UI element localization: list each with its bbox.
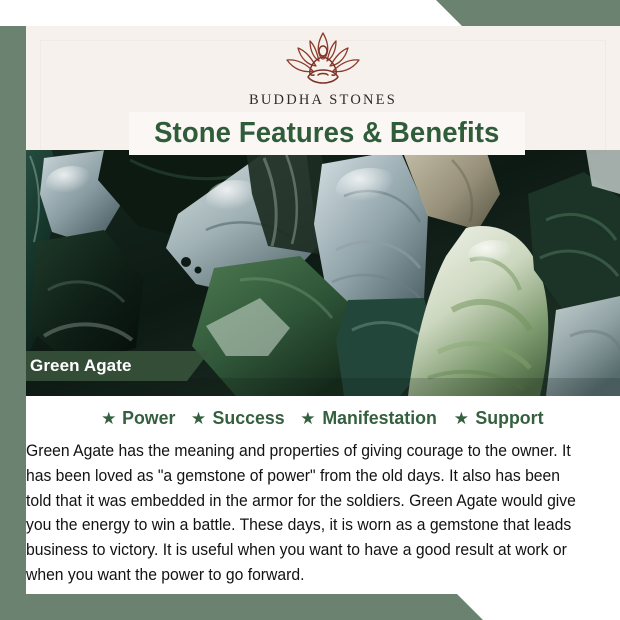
stone-info-card: BUDDHA STONES Stone Features & Benefits <box>0 0 620 620</box>
stone-name-text: Green Agate <box>30 356 132 376</box>
star-icon: ★ <box>101 410 116 427</box>
benefit-item: ★ Manifestation <box>300 407 439 429</box>
page-title-banner: Stone Features & Benefits <box>129 112 525 155</box>
card-body: BUDDHA STONES Stone Features & Benefits <box>26 26 620 594</box>
page-title: Stone Features & Benefits <box>154 117 499 150</box>
benefit-label: Support <box>475 407 543 429</box>
benefit-label: Manifestation <box>323 407 437 429</box>
benefits-list: ★ Power ★ Success ★ Manifestation ★ Supp… <box>26 400 620 436</box>
benefit-label: Success <box>213 407 285 429</box>
lotus-meditation-icon <box>280 29 366 91</box>
star-icon: ★ <box>454 410 469 427</box>
benefit-label: Power <box>122 407 175 429</box>
content-area: ★ Power ★ Success ★ Manifestation ★ Supp… <box>26 396 620 594</box>
brand-name: BUDDHA STONES <box>249 92 397 109</box>
benefit-item: ★ Power <box>101 407 177 429</box>
benefit-item: ★ Success <box>191 407 286 429</box>
frame-accent-left <box>0 26 26 620</box>
star-icon: ★ <box>191 410 206 427</box>
star-icon: ★ <box>300 410 315 427</box>
benefit-item: ★ Support <box>454 407 545 429</box>
stone-name-label: Green Agate <box>26 351 210 381</box>
stone-photo: Green Agate <box>26 150 620 396</box>
frame-accent-bottom <box>0 592 620 620</box>
description-text: Green Agate has the meaning and properti… <box>26 439 589 588</box>
brand-header: BUDDHA STONES <box>26 26 620 114</box>
